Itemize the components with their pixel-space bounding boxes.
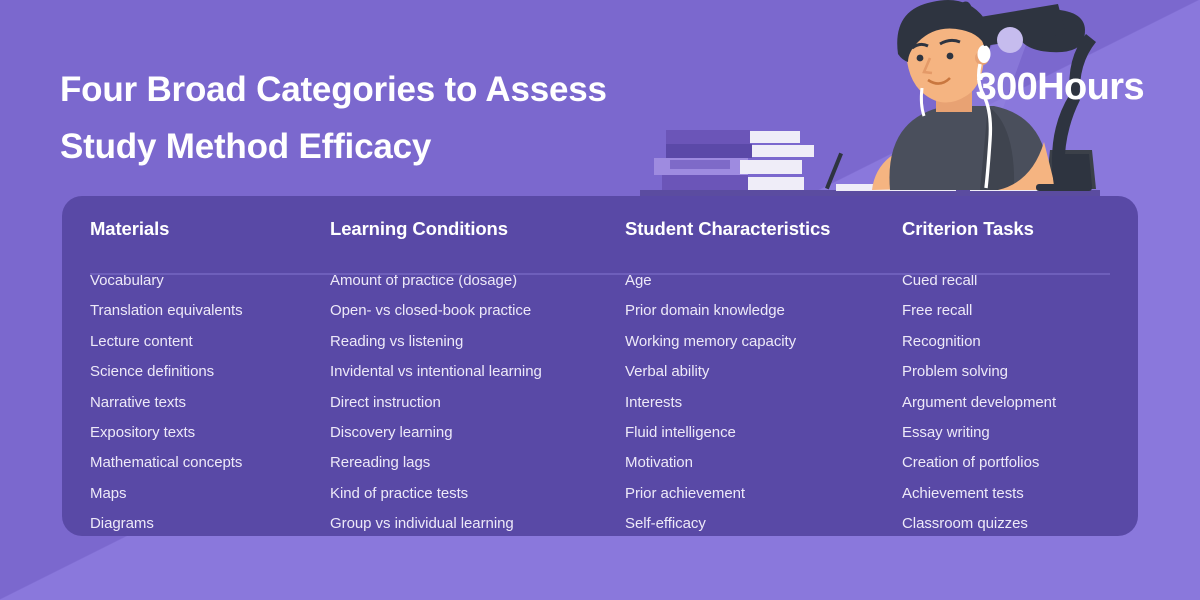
column-list-learning-conditions: Amount of practice (dosage) Open- vs clo…: [330, 266, 625, 540]
column-header-learning-conditions: Learning Conditions: [330, 218, 625, 245]
lamp-base: [1036, 184, 1092, 191]
column-list-student-characteristics: Age Prior domain knowledge Working memor…: [625, 266, 902, 540]
list-item: Vocabulary: [90, 266, 330, 296]
student-eye-left: [917, 55, 924, 62]
page-title: Four Broad Categories to Assess Study Me…: [60, 62, 760, 175]
list-item: Creation of portfolios: [902, 448, 1152, 478]
list-item: Maps: [90, 479, 330, 509]
column-header-materials: Materials: [90, 218, 330, 245]
list-item: Working memory capacity: [625, 327, 902, 357]
categories-card: Materials Vocabulary Translation equival…: [62, 196, 1138, 536]
list-item: Expository texts: [90, 418, 330, 448]
list-item: Classroom quizzes: [902, 509, 1152, 539]
pencil-icon: [825, 153, 843, 190]
column-list-materials: Vocabulary Translation equivalents Lectu…: [90, 266, 330, 540]
column-header-criterion-tasks: Criterion Tasks: [902, 218, 1152, 245]
infographic-canvas: Four Broad Categories to Assess Study Me…: [0, 0, 1200, 600]
brand-logo: 300Hours: [976, 66, 1144, 109]
column-header-student-characteristics: Student Characteristics: [625, 218, 902, 245]
category-column-learning-conditions: Learning Conditions Amount of practice (…: [330, 218, 625, 540]
category-column-student-characteristics: Student Characteristics Age Prior domain…: [625, 218, 902, 540]
list-item: Group vs individual learning: [330, 509, 625, 539]
list-item: Self-efficacy: [625, 509, 902, 539]
list-item: Reading vs listening: [330, 327, 625, 357]
list-item: Open- vs closed-book practice: [330, 296, 625, 326]
list-item: Motivation: [625, 448, 902, 478]
list-item: Fluid intelligence: [625, 418, 902, 448]
list-item: Narrative texts: [90, 388, 330, 418]
list-item: Mathematical concepts: [90, 448, 330, 478]
header-divider: [90, 273, 1110, 275]
list-item: Problem solving: [902, 357, 1152, 387]
column-list-criterion-tasks: Cued recall Free recall Recognition Prob…: [902, 266, 1152, 540]
list-item: Essay writing: [902, 418, 1152, 448]
list-item: Free recall: [902, 296, 1152, 326]
category-column-criterion-tasks: Criterion Tasks Cued recall Free recall …: [902, 218, 1152, 540]
list-item: Invidental vs intentional learning: [330, 357, 625, 387]
list-item: Age: [625, 266, 902, 296]
lamp-bulb-icon: [997, 27, 1023, 53]
list-item: Cued recall: [902, 266, 1152, 296]
list-item: Science definitions: [90, 357, 330, 387]
categories-columns: Materials Vocabulary Translation equival…: [90, 218, 1110, 540]
list-item: Argument development: [902, 388, 1152, 418]
list-item: Verbal ability: [625, 357, 902, 387]
list-item: Achievement tests: [902, 479, 1152, 509]
list-item: Interests: [625, 388, 902, 418]
student-eye-right: [947, 53, 954, 60]
list-item: Discovery learning: [330, 418, 625, 448]
list-item: Kind of practice tests: [330, 479, 625, 509]
list-item: Prior achievement: [625, 479, 902, 509]
list-item: Recognition: [902, 327, 1152, 357]
list-item: Amount of practice (dosage): [330, 266, 625, 296]
list-item: Diagrams: [90, 509, 330, 539]
list-item: Direct instruction: [330, 388, 625, 418]
list-item: Prior domain knowledge: [625, 296, 902, 326]
category-column-materials: Materials Vocabulary Translation equival…: [90, 218, 330, 540]
list-item: Rereading lags: [330, 448, 625, 478]
list-item: Lecture content: [90, 327, 330, 357]
list-item: Translation equivalents: [90, 296, 330, 326]
